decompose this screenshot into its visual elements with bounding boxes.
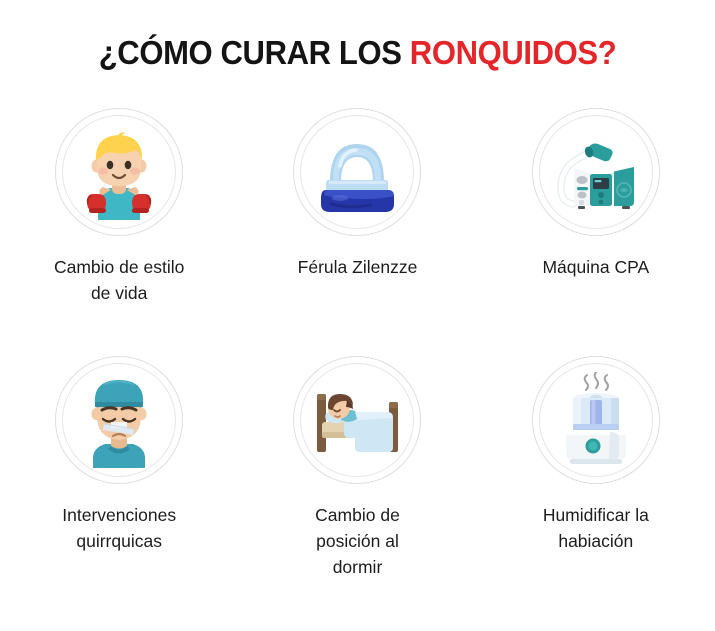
dental-splint-icon bbox=[309, 124, 405, 220]
grid-item-lifestyle-change[interactable]: Cambio de estilo de vida bbox=[0, 108, 238, 356]
page-title-accent: RONQUIDOS? bbox=[410, 34, 616, 71]
grid-item-label: Intervenciones quirrquicas bbox=[62, 502, 176, 554]
page-title-main: ¿CÓMO CURAR LOS bbox=[99, 34, 410, 71]
icon-ring-outer bbox=[293, 108, 421, 236]
infographic-page: ¿CÓMO CURAR LOS RONQUIDOS? bbox=[0, 0, 715, 631]
remedies-grid: Cambio de estilo de vida bbox=[0, 108, 715, 580]
boy-boxing-gloves-icon bbox=[71, 124, 167, 220]
humidifier-icon bbox=[548, 372, 644, 468]
icon-ring-outer bbox=[55, 356, 183, 484]
grid-item-cpap-machine[interactable]: Máquina CPA bbox=[477, 108, 715, 356]
grid-item-surgical-interventions[interactable]: Intervenciones quirrquicas bbox=[0, 356, 238, 580]
icon-ring-outer bbox=[532, 108, 660, 236]
cpap-machine-icon bbox=[548, 124, 644, 220]
icon-ring-outer bbox=[293, 356, 421, 484]
grid-item-zilenzze-splint[interactable]: Férula Zilenzze bbox=[238, 108, 476, 356]
surgery-patient-icon bbox=[71, 372, 167, 468]
grid-item-label: Máquina CPA bbox=[542, 254, 649, 280]
grid-item-sleep-position-change[interactable]: Cambio de posición al dormir bbox=[238, 356, 476, 580]
grid-item-label: Cambio de estilo de vida bbox=[54, 254, 184, 306]
grid-item-label: Cambio de posición al dormir bbox=[315, 502, 400, 580]
page-title: ¿CÓMO CURAR LOS RONQUIDOS? bbox=[21, 33, 693, 73]
icon-ring-outer bbox=[55, 108, 183, 236]
grid-item-label: Férula Zilenzze bbox=[298, 254, 418, 280]
grid-item-humidify-room[interactable]: Humidificar la habiación bbox=[477, 356, 715, 580]
person-sleeping-bed-icon bbox=[309, 372, 405, 468]
icon-ring-outer bbox=[532, 356, 660, 484]
grid-item-label: Humidificar la habiación bbox=[543, 502, 649, 554]
